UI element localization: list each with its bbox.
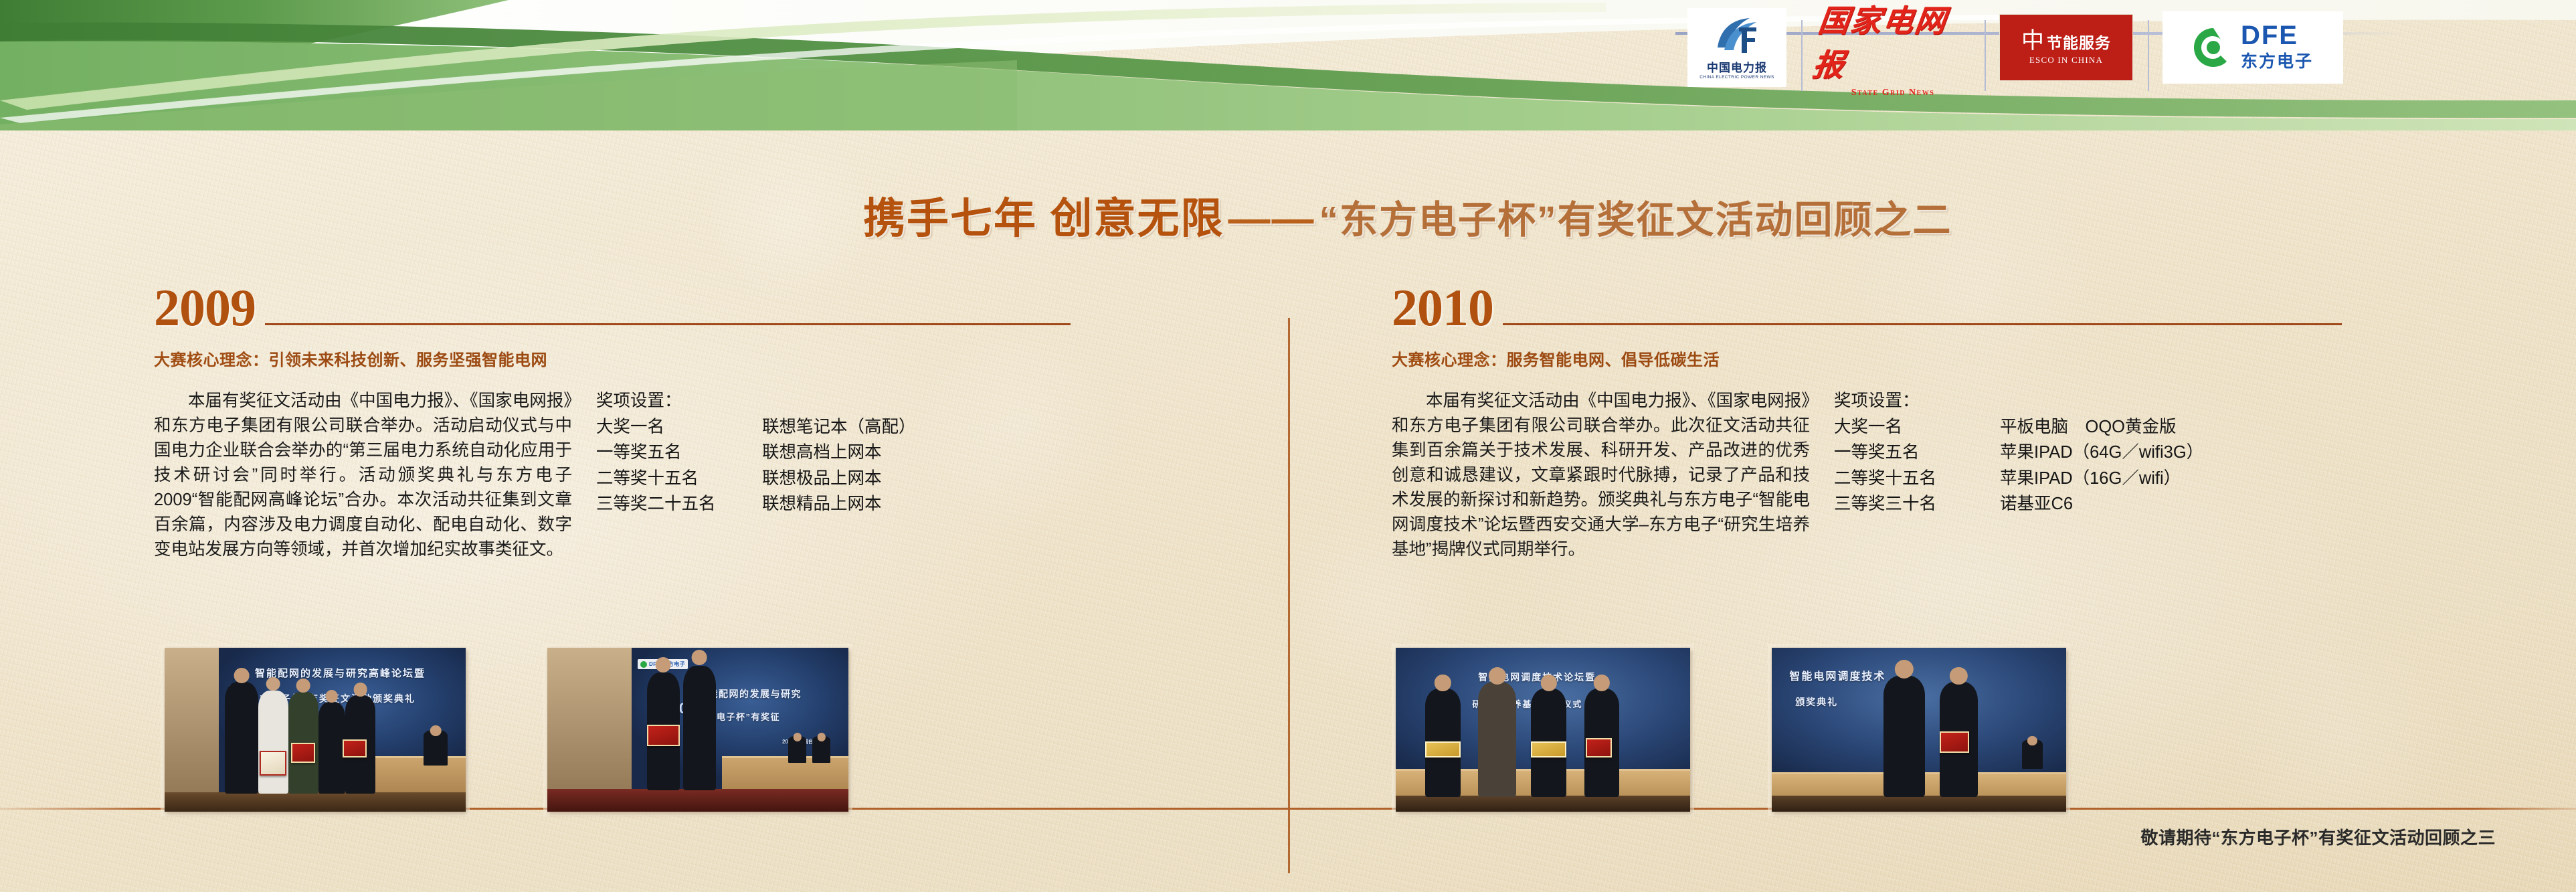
core-concept-label: 大赛核心理念： bbox=[1392, 351, 1507, 369]
awards-table: 大奖一名 平板电脑 OQO黄金版 一等奖五名 苹果IPAD（64G／wifi3G… bbox=[1834, 415, 2203, 517]
dfe-dot-icon bbox=[640, 661, 647, 668]
table-row: 大奖一名 联想笔记本（高配） bbox=[596, 415, 916, 440]
photo-frame: 智能配网的发展与研究高峰论坛暨 “东方电子杯”有奖征文活动颁奖典礼 20 bbox=[161, 644, 470, 816]
award-prize: 联想极品上网本 bbox=[750, 466, 916, 492]
logo-cell-esco-in-china: 中 节能服务 ESCO IN CHINA bbox=[1985, 8, 2148, 87]
logo-cell-dongfang-electronics: DFE 东方电子 bbox=[2148, 8, 2358, 87]
logo-cell-state-grid-news: 国家电网报 State Grid News bbox=[1801, 8, 1985, 87]
section-vertical-divider bbox=[1288, 318, 1290, 873]
photo-backdrop-line-2: 颁奖典礼 bbox=[1795, 695, 1838, 709]
award-level: 大奖一名 bbox=[596, 415, 750, 440]
dfe-green-e-icon bbox=[2193, 27, 2234, 68]
table-row: 三等奖二十五名 联想精品上网本 bbox=[596, 492, 916, 517]
table-row: 二等奖十五名 苹果IPAD（16G／wifi） bbox=[1834, 466, 2203, 492]
logo-en-text: State Grid News bbox=[1851, 88, 1935, 98]
award-prize: 苹果IPAD（64G／wifi3G） bbox=[1988, 440, 2203, 466]
table-row: 二等奖十五名 联想极品上网本 bbox=[596, 466, 916, 492]
award-level: 三等奖二十五名 bbox=[596, 492, 750, 517]
sponsor-logo-bar: 中国电力报 CHINA ELECTRIC POWER NEWS 国家电网报 St… bbox=[1673, 8, 2563, 87]
logo-cn-text: 节能服务 bbox=[2047, 30, 2111, 53]
photo-frame: DFE 东方电子 智能配网的发展与研究 “东方电子杯”有奖征 200 2009.… bbox=[543, 644, 852, 816]
logo-china-electric-power-news: 中国电力报 CHINA ELECTRIC POWER NEWS bbox=[1687, 8, 1786, 87]
award-prize: 苹果IPAD（16G／wifi） bbox=[1988, 466, 2203, 492]
awards-block: 奖项设置： 大奖一名 联想笔记本（高配） 一等奖五名 联想高档上网本 二等奖十五… bbox=[596, 389, 916, 562]
year-underline bbox=[265, 323, 1071, 325]
year-underline bbox=[1503, 323, 2342, 325]
awards-heading: 奖项设置： bbox=[1834, 389, 2203, 414]
photo-backdrop-line-1: 智能配网的发展与研究高峰论坛暨 bbox=[255, 666, 426, 680]
award-level: 大奖一名 bbox=[1834, 415, 1988, 440]
section-2009: 2009 大赛核心理念：引领未来科技创新、服务坚强智能电网 本届有奖征文活动由《… bbox=[154, 274, 1071, 562]
core-concept-line: 大赛核心理念：服务智能电网、倡导低碳生活 bbox=[1392, 347, 2342, 370]
photo-group-2009: 智能配网的发展与研究高峰论坛暨 “东方电子杯”有奖征文活动颁奖典礼 20 bbox=[161, 644, 852, 816]
award-level: 二等奖十五名 bbox=[1834, 466, 1988, 492]
core-concept-value: 引领未来科技创新、服务坚强智能电网 bbox=[269, 351, 548, 369]
award-prize: 诺基亚C6 bbox=[1988, 492, 2203, 517]
table-row: 一等奖五名 苹果IPAD（64G／wifi3G） bbox=[1834, 440, 2203, 466]
logo-cn-text: 中国电力报 bbox=[1707, 58, 1767, 75]
table-row: 一等奖五名 联想高档上网本 bbox=[596, 440, 916, 466]
poster-canvas: 中国电力报 CHINA ELECTRIC POWER NEWS 国家电网报 St… bbox=[0, 0, 2576, 892]
table-row: 三等奖三十名 诺基亚C6 bbox=[1834, 492, 2203, 517]
footer-teaser-text: 敬请期待“东方电子杯”有奖征文活动回顾之三 bbox=[2140, 824, 2496, 849]
award-prize: 联想高档上网本 bbox=[750, 440, 916, 466]
photo-frame: 智能电网调度技术 颁奖典礼 bbox=[1768, 644, 2070, 816]
logo-en-text: ESCO IN CHINA bbox=[2029, 55, 2103, 66]
award-prize: 联想笔记本（高配） bbox=[750, 415, 916, 440]
logo-esco-in-china: 中 节能服务 ESCO IN CHINA bbox=[1999, 14, 2133, 81]
logo-cn-text: 东方电子 bbox=[2241, 48, 2313, 72]
logo-dongfang-electronics: DFE 东方电子 bbox=[2163, 11, 2343, 84]
awards-block: 奖项设置： 大奖一名 平板电脑 OQO黄金版 一等奖五名 苹果IPAD（64G／… bbox=[1834, 389, 2203, 562]
year-label: 2010 bbox=[1392, 284, 1493, 332]
section-2010: 2010 大赛核心理念：服务智能电网、倡导低碳生活 本届有奖征文活动由《中国电力… bbox=[1392, 274, 2342, 562]
page-title-part1: 携手七年 创意无限 bbox=[863, 195, 1224, 242]
photo-group-2010: 智能电网调度技术论坛暨 研究生培养基地揭牌仪式 智能电网 bbox=[1392, 644, 2070, 816]
year-label: 2009 bbox=[154, 284, 256, 332]
photo-2009-award-handover: DFE 东方电子 智能配网的发展与研究 “东方电子杯”有奖征 200 2009.… bbox=[547, 648, 848, 812]
logo-mark-glyph: 中 bbox=[2021, 30, 2044, 53]
core-concept-value: 服务智能电网、倡导低碳生活 bbox=[1507, 351, 1720, 369]
logo-state-grid-news: 国家电网报 State Grid News bbox=[1816, 0, 1970, 98]
logo-cn-text: 国家电网报 bbox=[1811, 0, 1975, 85]
year-heading-row: 2009 bbox=[154, 274, 1071, 332]
award-level: 三等奖三十名 bbox=[1834, 492, 1988, 517]
logo-abbr-text: DFE bbox=[2241, 23, 2298, 48]
photo-backdrop-line-1: 智能电网调度技术 bbox=[1789, 667, 1885, 683]
award-prize: 平板电脑 OQO黄金版 bbox=[1988, 415, 2203, 440]
photo-frame: 智能电网调度技术论坛暨 研究生培养基地揭牌仪式 bbox=[1392, 644, 1694, 816]
awards-table: 大奖一名 联想笔记本（高配） 一等奖五名 联想高档上网本 二等奖十五名 联想极品… bbox=[596, 415, 916, 517]
photo-2009-ceremony-group: 智能配网的发展与研究高峰论坛暨 “东方电子杯”有奖征文活动颁奖典礼 20 bbox=[165, 648, 466, 812]
section-paragraph: 本届有奖征文活动由《中国电力报》、《国家电网报》和东方电子集团有限公司联合举办。… bbox=[154, 389, 572, 562]
section-paragraph: 本届有奖征文活动由《中国电力报》、《国家电网报》和东方电子集团有限公司联合举办。… bbox=[1392, 389, 1810, 562]
page-title-dash: —— bbox=[1224, 195, 1319, 242]
award-level: 一等奖五名 bbox=[596, 440, 750, 466]
photo-2010-award-handover: 智能电网调度技术 颁奖典礼 bbox=[1772, 648, 2066, 812]
photo-2010-ceremony-group: 智能电网调度技术论坛暨 研究生培养基地揭牌仪式 bbox=[1396, 648, 1690, 812]
awards-heading: 奖项设置： bbox=[596, 389, 916, 414]
core-concept-label: 大赛核心理念： bbox=[154, 351, 269, 369]
logo-cell-china-electric-power-news: 中国电力报 CHINA ELECTRIC POWER NEWS bbox=[1673, 8, 1801, 87]
year-heading-row: 2010 bbox=[1392, 274, 2342, 332]
award-prize: 联想精品上网本 bbox=[750, 492, 916, 517]
logo-en-text: CHINA ELECTRIC POWER NEWS bbox=[1699, 75, 1774, 80]
page-title-part2: “东方电子杯”有奖征文活动回顾之二 bbox=[1319, 199, 1952, 242]
award-level: 二等奖十五名 bbox=[596, 466, 750, 492]
cepn-swirl-icon bbox=[1712, 15, 1762, 57]
table-row: 大奖一名 平板电脑 OQO黄金版 bbox=[1834, 415, 2203, 440]
award-level: 一等奖五名 bbox=[1834, 440, 1988, 466]
page-title: 携手七年 创意无限——“东方电子杯”有奖征文活动回顾之二 bbox=[863, 185, 1952, 246]
core-concept-line: 大赛核心理念：引领未来科技创新、服务坚强智能电网 bbox=[154, 347, 1071, 370]
